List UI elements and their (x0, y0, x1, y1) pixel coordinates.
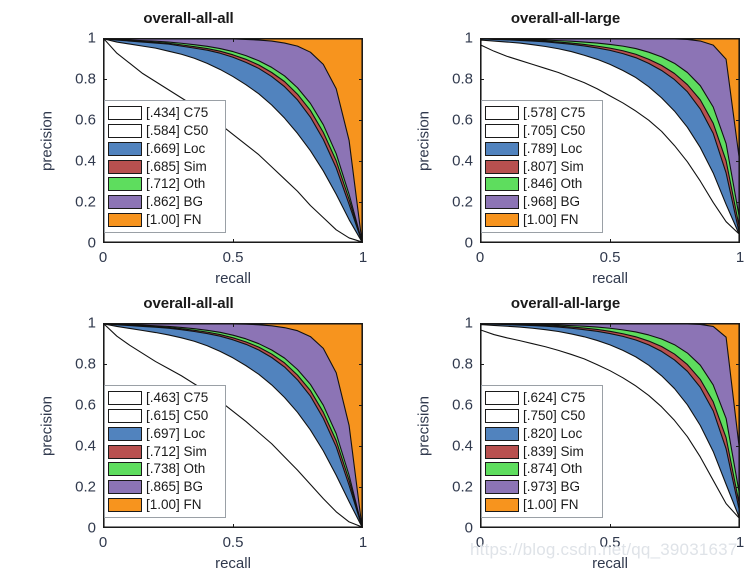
x-tick-mark (233, 323, 234, 327)
x-tick-label: 0.5 (223, 534, 244, 551)
y-tick-label: 1 (465, 315, 473, 332)
legend-item-oth: [.712] Oth (108, 175, 221, 193)
y-tick-label: 1 (88, 30, 96, 47)
legend-swatch-bg-icon (485, 480, 519, 494)
legend-swatch-fn-icon (485, 213, 519, 227)
legend-label: [.750] C50 (523, 409, 585, 423)
legend-swatch-c75-icon (108, 391, 142, 405)
legend-item-loc: [.789] Loc (485, 140, 598, 158)
x-tick-mark (610, 239, 611, 243)
legend-label: [.685] Sim (146, 160, 207, 174)
y-tick-label: 0 (88, 520, 96, 537)
panel-bottom-right: overall-all-large00.20.40.60.8100.51reca… (377, 285, 754, 570)
panel-bottom-left: overall-all-all00.20.40.60.8100.51recall… (0, 285, 377, 570)
legend-item-c75: [.624] C75 (485, 389, 598, 407)
x-tick-label: 1 (359, 249, 367, 266)
x-tick-label: 0.5 (223, 249, 244, 266)
x-tick-mark (610, 323, 611, 327)
legend-label: [.624] C75 (523, 391, 585, 405)
y-tick-mark (103, 79, 107, 80)
y-tick-mark (736, 161, 740, 162)
legend-label: [.712] Sim (146, 445, 207, 459)
legend-label: [1.00] FN (146, 213, 202, 227)
legend: [.434] C75[.584] C50[.669] Loc[.685] Sim… (104, 100, 226, 233)
legend-label: [.820] Loc (523, 427, 582, 441)
y-axis-label: precision (416, 110, 433, 170)
legend-label: [.697] Loc (146, 427, 205, 441)
y-tick-label: 0.8 (452, 356, 473, 373)
panel-title: overall-all-large (377, 295, 754, 312)
y-tick-mark (736, 202, 740, 203)
x-tick-mark (233, 38, 234, 42)
y-axis-label: precision (39, 110, 56, 170)
legend-label: [.846] Oth (523, 177, 582, 191)
legend-item-sim: [.807] Sim (485, 158, 598, 176)
legend-label: [.839] Sim (523, 445, 584, 459)
legend-label: [.434] C75 (146, 106, 208, 120)
y-tick-mark (736, 364, 740, 365)
panel-top-left: overall-all-all00.20.40.60.8100.51recall… (0, 0, 377, 285)
x-tick-label: 0 (99, 534, 107, 551)
legend-swatch-bg-icon (108, 480, 142, 494)
x-tick-label: 1 (736, 249, 744, 266)
legend-swatch-c75-icon (108, 106, 142, 120)
legend-item-c50: [.750] C50 (485, 407, 598, 425)
legend-label: [.968] BG (523, 195, 580, 209)
legend-item-bg: [.865] BG (108, 478, 221, 496)
legend-swatch-c50-icon (108, 124, 142, 138)
legend-item-sim: [.839] Sim (485, 443, 598, 461)
y-tick-label: 1 (88, 315, 96, 332)
y-tick-label: 0.8 (452, 71, 473, 88)
legend-swatch-oth-icon (108, 462, 142, 476)
legend-item-c75: [.434] C75 (108, 104, 221, 122)
x-tick-mark (233, 524, 234, 528)
legend-item-sim: [.712] Sim (108, 443, 221, 461)
legend-label: [.865] BG (146, 480, 203, 494)
legend-label: [1.00] FN (523, 498, 579, 512)
legend-item-c50: [.705] C50 (485, 122, 598, 140)
x-tick-label: 0 (476, 249, 484, 266)
legend-swatch-oth-icon (108, 177, 142, 191)
legend-item-bg: [.973] BG (485, 478, 598, 496)
y-tick-label: 0.6 (452, 397, 473, 414)
legend-swatch-fn-icon (485, 498, 519, 512)
y-tick-label: 0.8 (75, 356, 96, 373)
legend-swatch-oth-icon (485, 177, 519, 191)
y-tick-mark (736, 79, 740, 80)
y-tick-mark (359, 161, 363, 162)
y-tick-mark (359, 202, 363, 203)
legend: [.463] C75[.615] C50[.697] Loc[.712] Sim… (104, 385, 226, 518)
legend-item-fn: [1.00] FN (108, 496, 221, 514)
y-tick-label: 0 (465, 520, 473, 537)
x-tick-label: 1 (359, 534, 367, 551)
legend-label: [.738] Oth (146, 462, 205, 476)
x-tick-label: 0.5 (600, 534, 621, 551)
legend-swatch-c50-icon (108, 409, 142, 423)
legend-label: [1.00] FN (146, 498, 202, 512)
y-tick-label: 0.4 (452, 153, 473, 170)
y-tick-mark (736, 405, 740, 406)
legend-swatch-c75-icon (485, 391, 519, 405)
legend-label: [.789] Loc (523, 142, 582, 156)
legend-swatch-loc-icon (485, 142, 519, 156)
legend-item-oth: [.874] Oth (485, 460, 598, 478)
legend: [.578] C75[.705] C50[.789] Loc[.807] Sim… (481, 100, 603, 233)
panel-title: overall-all-all (0, 10, 377, 27)
panel-title: overall-all-all (0, 295, 377, 312)
y-tick-mark (359, 79, 363, 80)
legend-item-c75: [.463] C75 (108, 389, 221, 407)
legend-label: [.578] C75 (523, 106, 585, 120)
y-tick-label: 0 (88, 235, 96, 252)
y-axis-label: precision (39, 395, 56, 455)
legend-label: [.463] C75 (146, 391, 208, 405)
y-tick-label: 0.2 (452, 479, 473, 496)
legend-item-c50: [.615] C50 (108, 407, 221, 425)
legend-label: [.874] Oth (523, 462, 582, 476)
y-tick-mark (359, 405, 363, 406)
x-axis-label: recall (592, 555, 628, 572)
legend-label: [.973] BG (523, 480, 580, 494)
legend-swatch-oth-icon (485, 462, 519, 476)
legend-label: [.807] Sim (523, 160, 584, 174)
y-tick-label: 0.2 (75, 194, 96, 211)
y-tick-mark (359, 446, 363, 447)
x-tick-mark (610, 38, 611, 42)
legend-label: [.584] C50 (146, 124, 208, 138)
legend-item-loc: [.697] Loc (108, 425, 221, 443)
legend-item-bg: [.862] BG (108, 193, 221, 211)
y-tick-mark (480, 364, 484, 365)
legend-item-fn: [1.00] FN (485, 211, 598, 229)
legend-item-oth: [.846] Oth (485, 175, 598, 193)
y-tick-label: 1 (465, 30, 473, 47)
legend-swatch-loc-icon (108, 427, 142, 441)
x-tick-label: 0 (99, 249, 107, 266)
legend-swatch-c50-icon (485, 124, 519, 138)
y-tick-mark (359, 487, 363, 488)
x-tick-label: 0.5 (600, 249, 621, 266)
y-tick-mark (736, 487, 740, 488)
y-tick-mark (736, 446, 740, 447)
panel-title: overall-all-large (377, 10, 754, 27)
legend-swatch-fn-icon (108, 498, 142, 512)
legend-label: [.862] BG (146, 195, 203, 209)
legend-item-fn: [1.00] FN (485, 496, 598, 514)
legend-item-sim: [.685] Sim (108, 158, 221, 176)
legend-swatch-bg-icon (108, 195, 142, 209)
legend-item-fn: [1.00] FN (108, 211, 221, 229)
x-tick-mark (610, 524, 611, 528)
legend-label: [.705] C50 (523, 124, 585, 138)
legend-swatch-sim-icon (485, 445, 519, 459)
y-tick-mark (359, 120, 363, 121)
y-tick-label: 0.2 (75, 479, 96, 496)
legend: [.624] C75[.750] C50[.820] Loc[.839] Sim… (481, 385, 603, 518)
legend-item-c50: [.584] C50 (108, 122, 221, 140)
legend-swatch-fn-icon (108, 213, 142, 227)
legend-label: [.669] Loc (146, 142, 205, 156)
y-tick-label: 0.8 (75, 71, 96, 88)
legend-swatch-loc-icon (108, 142, 142, 156)
x-tick-mark (233, 239, 234, 243)
y-tick-label: 0.6 (75, 112, 96, 129)
legend-swatch-sim-icon (108, 160, 142, 174)
legend-label: [1.00] FN (523, 213, 579, 227)
y-tick-mark (103, 364, 107, 365)
y-tick-mark (359, 364, 363, 365)
legend-label: [.615] C50 (146, 409, 208, 423)
legend-item-loc: [.669] Loc (108, 140, 221, 158)
y-tick-label: 0 (465, 235, 473, 252)
legend-item-loc: [.820] Loc (485, 425, 598, 443)
legend-item-oth: [.738] Oth (108, 460, 221, 478)
pr-curve-figure: overall-all-all00.20.40.60.8100.51recall… (0, 0, 754, 571)
legend-item-bg: [.968] BG (485, 193, 598, 211)
y-tick-label: 0.6 (75, 397, 96, 414)
legend-swatch-sim-icon (108, 445, 142, 459)
x-tick-label: 1 (736, 534, 744, 551)
legend-swatch-sim-icon (485, 160, 519, 174)
legend-swatch-c50-icon (485, 409, 519, 423)
y-axis-label: precision (416, 395, 433, 455)
legend-item-c75: [.578] C75 (485, 104, 598, 122)
panel-top-right: overall-all-large00.20.40.60.8100.51reca… (377, 0, 754, 285)
legend-label: [.712] Oth (146, 177, 205, 191)
x-axis-label: recall (215, 555, 251, 572)
y-tick-mark (480, 79, 484, 80)
x-tick-label: 0 (476, 534, 484, 551)
legend-swatch-loc-icon (485, 427, 519, 441)
y-tick-label: 0.4 (75, 438, 96, 455)
legend-swatch-bg-icon (485, 195, 519, 209)
y-tick-label: 0.4 (452, 438, 473, 455)
y-tick-label: 0.2 (452, 194, 473, 211)
y-tick-label: 0.6 (452, 112, 473, 129)
y-tick-label: 0.4 (75, 153, 96, 170)
legend-swatch-c75-icon (485, 106, 519, 120)
y-tick-mark (736, 120, 740, 121)
